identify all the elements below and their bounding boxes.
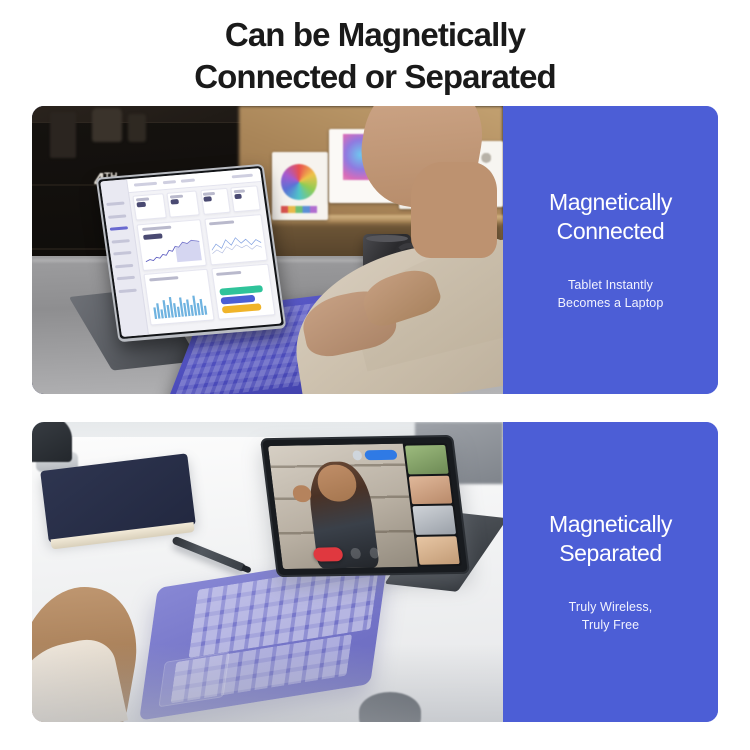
monitor-arm bbox=[32, 422, 72, 462]
participant-thumbnail[interactable] bbox=[416, 536, 460, 565]
dashboard-kpi-card bbox=[133, 193, 167, 220]
panel-title-line-1: Magnetically bbox=[549, 511, 672, 537]
panel-subtitle-line-2: Becomes a Laptop bbox=[558, 296, 664, 310]
shelf-object-post bbox=[50, 112, 76, 158]
page-title-line-2: Connected or Separated bbox=[0, 56, 750, 98]
panel-subtitle-line-1: Tablet Instantly bbox=[568, 278, 653, 292]
video-call-main-speaker bbox=[268, 444, 417, 569]
dashboard-kpi-card bbox=[230, 186, 261, 213]
participant-thumbnail[interactable] bbox=[404, 445, 448, 474]
video-call-screen bbox=[268, 443, 462, 569]
desk-shadow bbox=[32, 644, 503, 722]
tablet-screen-dashboard bbox=[100, 168, 282, 337]
dashboard-kpi-card bbox=[200, 188, 231, 215]
tablet-device bbox=[96, 164, 287, 342]
panel-subtitle-separated: Truly Wireless, Truly Free bbox=[569, 598, 653, 634]
panel-subtitle-line-2: Truly Free bbox=[582, 618, 640, 632]
panel-title-separated: Magnetically Separated bbox=[549, 510, 672, 568]
panel-title-connected: Magnetically Connected bbox=[549, 188, 672, 246]
page-title: Can be Magnetically Connected or Separat… bbox=[0, 14, 750, 98]
dashboard-chart-line bbox=[137, 219, 207, 271]
tablet-device bbox=[260, 435, 470, 577]
product-feature-page: Can be Magnetically Connected or Separat… bbox=[0, 0, 750, 750]
area-chart-svg bbox=[210, 232, 263, 259]
bar-chart-svg bbox=[151, 288, 210, 318]
photo-magnetically-separated bbox=[32, 422, 503, 722]
panel-title-line-1: Magnetically bbox=[549, 189, 672, 215]
call-control-mic[interactable] bbox=[350, 548, 361, 559]
end-call-button[interactable] bbox=[313, 547, 344, 561]
page-title-line-1: Can be Magnetically bbox=[0, 14, 750, 56]
call-camera-icon[interactable] bbox=[352, 451, 363, 461]
shelf-object-jar-small bbox=[128, 114, 146, 142]
feature-card-connected: 4TH bbox=[32, 106, 718, 394]
shelf-object-jar bbox=[92, 108, 122, 142]
dashboard-kpi-card bbox=[166, 191, 200, 218]
call-status-pill[interactable] bbox=[364, 450, 397, 460]
participant-thumbnail[interactable] bbox=[412, 505, 456, 534]
panel-title-line-2: Connected bbox=[557, 218, 665, 244]
dashboard-progress-card bbox=[211, 263, 276, 319]
feature-card-separated: Magnetically Separated Truly Wireless, T… bbox=[32, 422, 718, 722]
panel-subtitle-connected: Tablet Instantly Becomes a Laptop bbox=[558, 276, 664, 312]
dashboard-chart-bars bbox=[144, 268, 215, 325]
panel-subtitle-line-1: Truly Wireless, bbox=[569, 600, 653, 614]
person-neck bbox=[411, 162, 497, 258]
panel-magnetically-connected: Magnetically Connected Tablet Instantly … bbox=[503, 106, 718, 394]
panel-magnetically-separated: Magnetically Separated Truly Wireless, T… bbox=[503, 422, 718, 722]
dashboard-chart-area bbox=[204, 214, 268, 265]
panel-title-line-2: Separated bbox=[559, 540, 662, 566]
line-chart-svg bbox=[143, 237, 202, 265]
poster-color-wheel bbox=[272, 152, 328, 220]
participant-thumbnail[interactable] bbox=[408, 475, 452, 504]
photo-magnetically-connected: 4TH bbox=[32, 106, 503, 394]
